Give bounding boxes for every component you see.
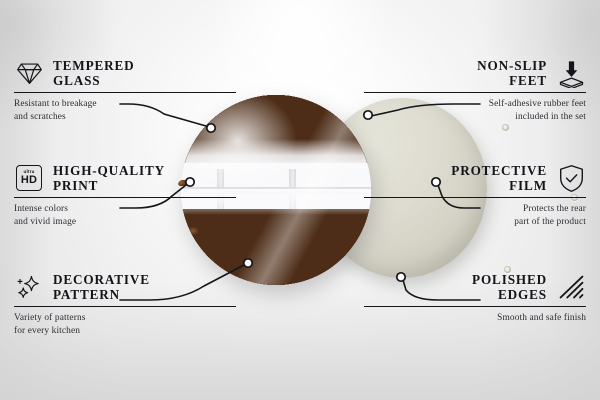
feature-rule (364, 306, 586, 307)
diamond-icon (14, 58, 44, 88)
feature-description: Smooth and safe finish (364, 312, 586, 325)
shield-check-icon (556, 163, 586, 193)
ultra-hd-icon: ultra HD (14, 163, 44, 193)
feature-description: Resistant to breakage and scratches (14, 98, 236, 123)
feature-polished-edges: POLISHED EDGES Smooth and safe finish (364, 272, 586, 325)
feature-rule (364, 92, 586, 93)
feature-title: NON-SLIP FEET (477, 58, 547, 88)
feature-protective-film: PROTECTIVE FILM Protects the rear part o… (364, 163, 586, 228)
feature-description: Protects the rear part of the product (364, 203, 586, 228)
feature-high-quality-print: ultra HD HIGH-QUALITY PRINT Intense colo… (14, 163, 236, 228)
hd-label: HD (21, 175, 37, 186)
diagonal-lines-icon (556, 272, 586, 302)
feature-rule (14, 197, 236, 198)
feature-header: TEMPERED GLASS (14, 58, 236, 88)
feature-header: POLISHED EDGES (364, 272, 586, 302)
sparkle-icon (14, 272, 44, 302)
feature-header: DECORATIVE PATTERN (14, 272, 236, 302)
feature-title: TEMPERED GLASS (53, 58, 135, 88)
feature-rule (364, 197, 586, 198)
feature-decorative-pattern: DECORATIVE PATTERN Variety of patterns f… (14, 272, 236, 337)
feature-title: HIGH-QUALITY PRINT (53, 163, 165, 193)
feature-header: ultra HD HIGH-QUALITY PRINT (14, 163, 236, 193)
feature-non-slip-feet: NON-SLIP FEET Self-adhesive rubber feet … (364, 58, 586, 123)
connector-dot-tempered-glass (207, 124, 215, 132)
infographic-stage: TEMPERED GLASS Resistant to breakage and… (0, 0, 600, 400)
connector-dot-decorative-pattern (244, 259, 252, 267)
feature-rule (14, 306, 236, 307)
feature-header: NON-SLIP FEET (364, 58, 586, 88)
feature-title: DECORATIVE PATTERN (53, 272, 150, 302)
press-down-pad-icon (556, 58, 586, 88)
feature-description: Intense colors and vivid image (14, 203, 236, 228)
feature-header: PROTECTIVE FILM (364, 163, 586, 193)
feature-tempered-glass: TEMPERED GLASS Resistant to breakage and… (14, 58, 236, 123)
feature-description: Variety of patterns for every kitchen (14, 312, 236, 337)
feature-title: PROTECTIVE FILM (451, 163, 547, 193)
feature-description: Self-adhesive rubber feet included in th… (364, 98, 586, 123)
feature-rule (14, 92, 236, 93)
feature-title: POLISHED EDGES (472, 272, 547, 302)
